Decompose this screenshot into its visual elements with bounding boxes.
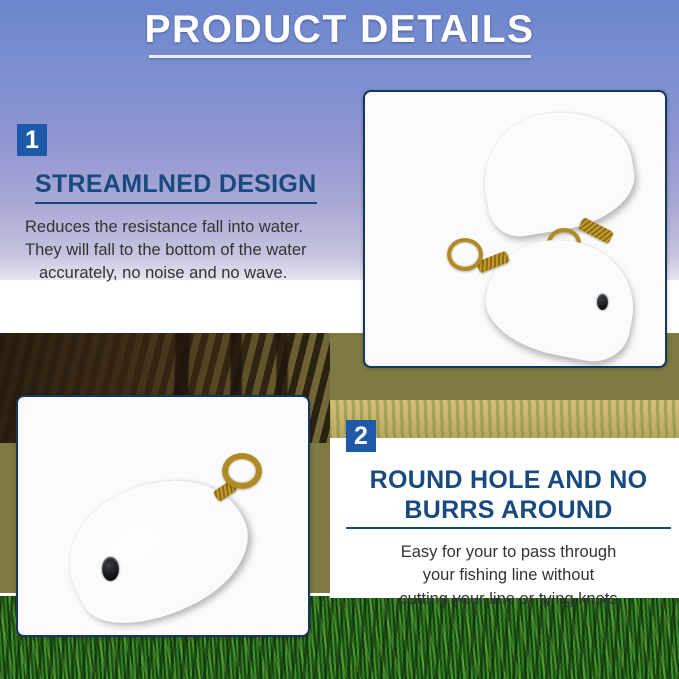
sinker-upper-texture <box>475 101 642 241</box>
sinker-lower-wire-loop <box>447 238 483 271</box>
section-one-number-badge: 1 <box>17 124 47 156</box>
sinker-single <box>66 447 276 617</box>
section-two-number-badge: 2 <box>346 420 376 452</box>
product-image-card-two-sinkers[interactable] <box>363 90 667 368</box>
section-one-heading-wrap: STREAMLNED DESIGN <box>17 170 357 204</box>
section-two-heading: ROUND HOLE AND NO BURRS AROUND <box>346 466 671 529</box>
sinker-upper-body <box>475 101 642 241</box>
section-two-body-line: cutting your line or tying knots <box>346 588 671 611</box>
sinker-lower-texture <box>477 227 644 368</box>
sinker-lower <box>465 232 625 362</box>
section-two-body-line: your fishing line without <box>346 564 671 587</box>
page-header: PRODUCT DETAILS <box>0 0 679 80</box>
section-one-body-line: Reduces the resistance fall into water. <box>25 216 357 239</box>
sinker-single-wire-loop <box>222 453 262 489</box>
sinker-lower-body <box>477 227 644 368</box>
section-one-body-line: accurately, no noise and no wave. <box>25 262 357 285</box>
section-two-body: Easy for your to pass through your fishi… <box>346 541 671 611</box>
sinker-single-round-hole <box>102 557 119 581</box>
section-one-body: Reduces the resistance fall into water. … <box>17 216 357 286</box>
sinker-upper <box>483 112 633 232</box>
feature-section-one: 1 STREAMLNED DESIGN Reduces the resistan… <box>17 124 357 286</box>
section-two-body-line: Easy for your to pass through <box>346 541 671 564</box>
product-image-card-single-sinker[interactable] <box>16 395 310 637</box>
section-one-body-line: They will fall to the bottom of the wate… <box>25 239 357 262</box>
section-one-heading: STREAMLNED DESIGN <box>35 170 317 204</box>
page-title: PRODUCT DETAILS <box>144 10 534 51</box>
title-underline <box>149 55 531 58</box>
sinker-lower-hole <box>597 294 608 310</box>
section-two-heading-wrap: ROUND HOLE AND NO BURRS AROUND <box>346 466 671 529</box>
feature-section-two: 2 ROUND HOLE AND NO BURRS AROUND Easy fo… <box>346 420 671 611</box>
